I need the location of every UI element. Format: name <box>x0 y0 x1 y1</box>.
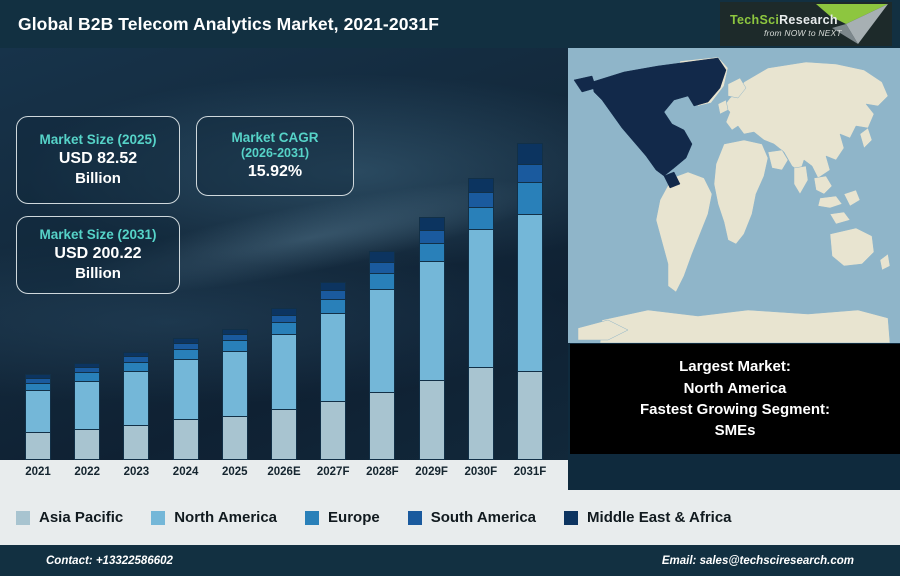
bar-segment-europe <box>419 243 445 262</box>
kpi-2025-unit: Billion <box>75 170 121 188</box>
legend-swatch-icon <box>564 511 578 525</box>
kpi-2025-value: USD 82.52 <box>59 148 137 170</box>
bar-segment-europe <box>74 372 100 380</box>
world-map <box>568 48 900 343</box>
legend-swatch-icon <box>305 511 319 525</box>
bar-2023[interactable] <box>123 352 149 460</box>
bar-segment-europe <box>517 182 543 214</box>
bar-segment-south-america <box>271 315 297 323</box>
bar-2026E[interactable] <box>271 308 297 460</box>
map-highlight-north-america <box>574 58 726 188</box>
bar-2031F[interactable] <box>517 143 543 460</box>
bar-segment-north-america <box>468 229 494 367</box>
bar-2024[interactable] <box>173 338 199 460</box>
x-axis-label-2029F: 2029F <box>404 466 460 478</box>
bar-segment-asia-pacific <box>369 392 395 460</box>
x-axis-label-2027F: 2027F <box>305 466 361 478</box>
bar-segment-middle-east-africa <box>320 282 346 290</box>
legend-swatch-icon <box>16 511 30 525</box>
kpi-market-size-2031: Market Size (2031) USD 200.22 Billion <box>16 216 180 294</box>
bar-segment-europe <box>25 383 51 391</box>
legend-item-europe[interactable]: Europe <box>305 509 380 526</box>
kpi-2025-title: Market Size (2025) <box>39 132 156 148</box>
x-axis: 202120222023202420252026E2027F2028F2029F… <box>0 460 568 490</box>
bar-segment-asia-pacific <box>419 380 445 460</box>
kpi-2031-title: Market Size (2031) <box>39 227 156 243</box>
x-axis-label-2024: 2024 <box>158 466 214 478</box>
bar-segment-north-america <box>517 214 543 371</box>
logo-brand-part2: Research <box>779 13 838 27</box>
legend-label: South America <box>431 509 536 526</box>
bar-segment-middle-east-africa <box>419 217 445 229</box>
x-axis-label-2026E: 2026E <box>256 466 312 478</box>
legend-label: Middle East & Africa <box>587 509 731 526</box>
bar-segment-north-america <box>222 351 248 416</box>
logo-brand-part1: TechSci <box>730 13 779 27</box>
techsci-logo[interactable]: TechSciResearch from NOW to NEXT <box>720 2 892 46</box>
x-axis-label-2028F: 2028F <box>354 466 410 478</box>
bar-2022[interactable] <box>74 363 100 460</box>
world-map-svg <box>568 48 900 343</box>
bar-segment-south-america <box>468 192 494 207</box>
x-axis-label-2031F: 2031F <box>502 466 558 478</box>
kpi-cagr-title: Market CAGR <box>231 130 318 146</box>
bar-segment-asia-pacific <box>517 371 543 460</box>
x-axis-label-2025: 2025 <box>207 466 263 478</box>
largest-market-label: Largest Market: <box>679 356 791 377</box>
bar-segment-north-america <box>271 334 297 410</box>
fastest-segment-label: Fastest Growing Segment: <box>640 399 830 420</box>
bar-segment-europe <box>173 349 199 359</box>
bar-segment-south-america <box>320 290 346 299</box>
bar-segment-north-america <box>123 371 149 424</box>
bar-2028F[interactable] <box>369 251 395 460</box>
footer-email: Email: sales@techsciresearch.com <box>662 555 854 567</box>
x-axis-label-2030F: 2030F <box>453 466 509 478</box>
bar-segment-north-america <box>173 359 199 419</box>
bar-segment-asia-pacific <box>320 401 346 460</box>
legend-item-south-america[interactable]: South America <box>408 509 536 526</box>
kpi-2031-unit: Billion <box>75 265 121 283</box>
kpi-cagr-value: 15.92% <box>248 161 302 183</box>
legend-item-asia-pacific[interactable]: Asia Pacific <box>16 509 123 526</box>
bar-segment-south-america <box>369 262 395 273</box>
header-bar: Global B2B Telecom Analytics Market, 202… <box>0 0 900 48</box>
legend-swatch-icon <box>151 511 165 525</box>
kpi-market-size-2025: Market Size (2025) USD 82.52 Billion <box>16 116 180 204</box>
footer-bar: Contact: +13322586602 Email: sales@techs… <box>0 545 900 576</box>
bar-segment-middle-east-africa <box>271 308 297 315</box>
bar-segment-asia-pacific <box>123 425 149 460</box>
bar-2030F[interactable] <box>468 178 494 460</box>
bar-segment-europe <box>222 340 248 351</box>
bar-segment-europe <box>123 362 149 371</box>
bar-segment-asia-pacific <box>468 367 494 460</box>
bar-segment-middle-east-africa <box>468 178 494 192</box>
logo-tagline: from NOW to NEXT <box>764 28 842 38</box>
bar-2021[interactable] <box>25 374 51 460</box>
bar-2029F[interactable] <box>419 217 445 460</box>
x-axis-label-2021: 2021 <box>10 466 66 478</box>
fastest-segment-value: SMEs <box>715 420 756 441</box>
bar-segment-middle-east-africa <box>369 251 395 262</box>
chart-legend: Asia PacificNorth AmericaEuropeSouth Ame… <box>0 490 900 545</box>
x-axis-label-2023: 2023 <box>108 466 164 478</box>
bar-segment-south-america <box>517 164 543 182</box>
legend-swatch-icon <box>408 511 422 525</box>
bar-segment-europe <box>271 322 297 333</box>
legend-label: Europe <box>328 509 380 526</box>
bar-segment-north-america <box>369 289 395 391</box>
legend-label: North America <box>174 509 277 526</box>
bar-segment-north-america <box>74 381 100 429</box>
footer-contact: Contact: +13322586602 <box>46 555 173 567</box>
bar-segment-middle-east-africa <box>517 143 543 164</box>
bar-2025[interactable] <box>222 329 248 460</box>
logo-brand-text: TechSciResearch <box>730 13 838 27</box>
chart-panel: Market Size (2025) USD 82.52 Billion Mar… <box>0 48 568 490</box>
legend-label: Asia Pacific <box>39 509 123 526</box>
largest-market-value: North America <box>684 378 787 399</box>
kpi-cagr-subtitle: (2026-2031) <box>241 146 309 161</box>
bar-segment-asia-pacific <box>74 429 100 460</box>
bar-segment-europe <box>468 207 494 229</box>
kpi-2031-value: USD 200.22 <box>54 243 141 265</box>
x-axis-label-2022: 2022 <box>59 466 115 478</box>
bar-segment-asia-pacific <box>173 419 199 460</box>
legend-item-north-america[interactable]: North America <box>151 509 277 526</box>
bar-segment-north-america <box>25 390 51 432</box>
legend-item-middle-east-africa[interactable]: Middle East & Africa <box>564 509 731 526</box>
bar-segment-south-america <box>419 230 445 243</box>
kpi-market-cagr: Market CAGR (2026-2031) 15.92% <box>196 116 354 196</box>
bar-segment-europe <box>320 299 346 313</box>
bar-segment-north-america <box>320 313 346 401</box>
bar-2027F[interactable] <box>320 282 346 460</box>
bar-segment-europe <box>369 273 395 289</box>
bar-segment-asia-pacific <box>25 432 51 460</box>
bar-segment-asia-pacific <box>222 416 248 460</box>
market-callout-box: Largest Market: North America Fastest Gr… <box>570 344 900 454</box>
page-title: Global B2B Telecom Analytics Market, 202… <box>18 14 439 35</box>
bar-segment-asia-pacific <box>271 409 297 460</box>
bar-segment-north-america <box>419 261 445 380</box>
